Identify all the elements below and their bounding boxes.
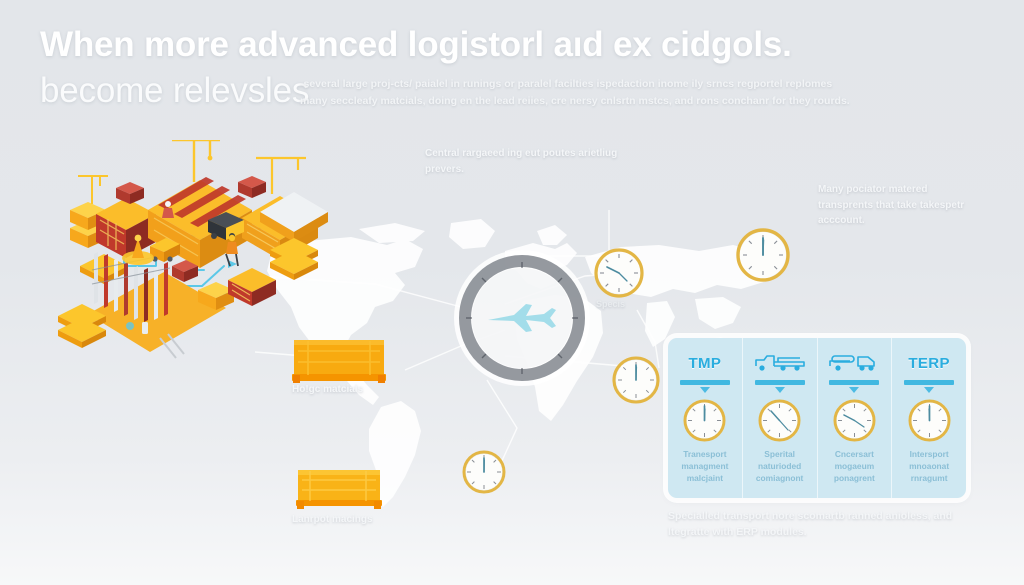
panel-cell-rule	[755, 380, 805, 385]
hazard-materials-label: Ho!gc matcials	[292, 382, 452, 398]
panel-grid: TMP Tranesportmanagmentmalcjaint	[668, 338, 966, 498]
panel-clock-icon	[683, 399, 726, 442]
flatbed-truck-icon	[754, 352, 806, 374]
panel-clock-icon	[908, 399, 951, 442]
panel-cell-head	[754, 347, 806, 379]
many-operators-note: Many pociator matered transprents that t…	[818, 182, 978, 229]
panel-cell-tmp[interactable]: TMP Tranesportmanagmentmalcjaint	[668, 338, 743, 498]
pin-icon	[924, 387, 934, 393]
pin-icon	[700, 387, 710, 393]
clock-south	[462, 450, 506, 494]
panel-cell-tag: TERP	[908, 355, 950, 372]
clock-north	[736, 228, 790, 282]
subheadline: -several large proj-cts/ paialel in runi…	[300, 76, 950, 111]
tanker-truck-icon	[828, 352, 880, 374]
isometric-logistics-scene	[52, 140, 352, 375]
central-routing-note: Central rargaeed ing eut poutes arietliu…	[425, 146, 625, 177]
specis-label: Specis	[596, 298, 686, 312]
pin-icon	[775, 387, 785, 393]
subheadline-line-1: -several large proj-cts/ paialel in runi…	[300, 76, 950, 93]
panel-cell-head	[828, 347, 880, 379]
panel-cell-label: Speritalnaturiodedcomiagnont	[753, 448, 806, 485]
panel-cell-flatbed-truck[interactable]: Speritalnaturiodedcomiagnont	[743, 338, 818, 498]
panel-cell-head: TMP	[688, 347, 721, 379]
lamper-crate	[296, 468, 382, 510]
lamper-macings-label: Lanrpot macings	[292, 512, 452, 528]
panel-cell-tag: TMP	[688, 355, 721, 372]
globe-dial	[452, 248, 592, 388]
clock-specis	[594, 248, 644, 298]
panel-cell-rule	[680, 380, 730, 385]
bottom-caption: Specialled transport nore scomartb ranne…	[668, 508, 958, 541]
clock-east	[612, 356, 660, 404]
panel-cell-label: Tranesportmanagmentmalcjaint	[678, 448, 731, 485]
panel-cell-tanker-truck[interactable]: Cncersartmogaeumponagrent	[818, 338, 893, 498]
panel-cell-rule	[829, 380, 879, 385]
headline-line-1: When more advanced logistorl aıd ex cidg…	[40, 22, 840, 68]
panel-cell-label: Intersportmnoaonatrnragumt	[906, 448, 952, 485]
tmp-terp-panel: TMP Tranesportmanagmentmalcjaint	[668, 338, 966, 498]
panel-cell-terp[interactable]: TERP Intersportmnoaonatrnragumt	[892, 338, 966, 498]
panel-cell-rule	[904, 380, 954, 385]
infographic-canvas: Ho!gc matcials Lanrpot macings	[0, 0, 1024, 585]
panel-cell-label: Cncersartmogaeumponagrent	[831, 448, 878, 485]
panel-cell-head: TERP	[908, 347, 950, 379]
pin-icon	[849, 387, 859, 393]
subheadline-line-2: many seccleafy matcials, doing en the le…	[300, 93, 950, 110]
panel-clock-icon	[833, 399, 876, 442]
panel-clock-icon	[758, 399, 801, 442]
